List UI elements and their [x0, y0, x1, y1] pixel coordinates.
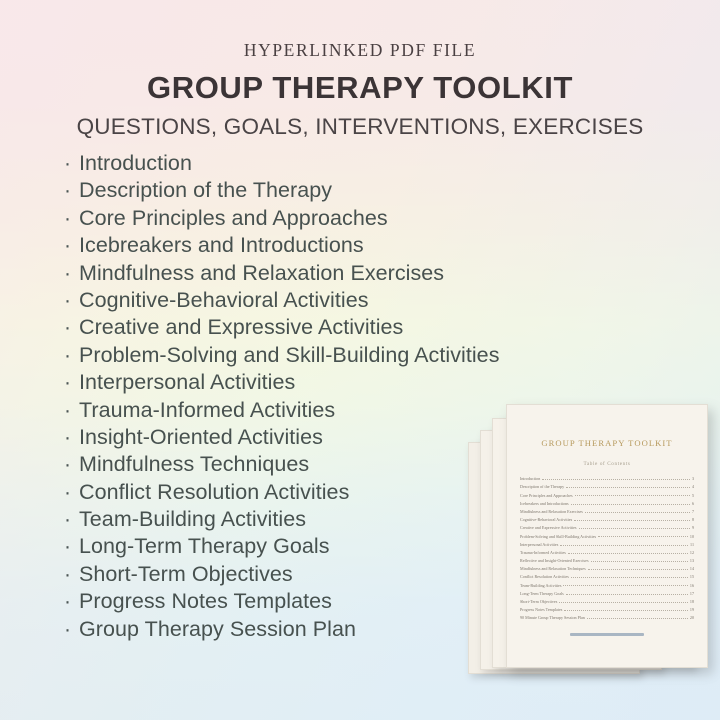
bullet-icon: ·	[64, 342, 79, 369]
bullet-icon: ·	[64, 533, 79, 560]
list-item-label: Mindfulness Techniques	[79, 451, 309, 478]
list-item-label: Interpersonal Activities	[79, 369, 295, 396]
document-toc-row-label: Icebreakers and Introductions	[520, 501, 571, 506]
document-toc-row[interactable]: Long-Term Therapy Goals17	[520, 588, 694, 596]
list-item[interactable]: ·Insight-Oriented Activities	[64, 424, 500, 451]
list-item[interactable]: ·Introduction	[64, 150, 500, 177]
list-item[interactable]: ·Core Principles and Approaches	[64, 205, 500, 232]
document-toc-row-page: 14	[688, 566, 694, 571]
bullet-icon: ·	[64, 314, 79, 341]
document-toc-row-page: 19	[688, 607, 694, 612]
document-toc-leader	[588, 569, 688, 570]
list-item[interactable]: ·Progress Notes Templates	[64, 588, 500, 615]
list-item-label: Mindfulness and Relaxation Exercises	[79, 260, 444, 287]
document-toc-row-page: 9	[690, 525, 694, 530]
document-title: GROUP THERAPY TOOLKIT	[507, 438, 707, 448]
document-toc-row-page: 20	[688, 615, 694, 620]
document-toc-row-label: Cognitive-Behavioral Activities	[520, 517, 574, 522]
list-item-label: Conflict Resolution Activities	[79, 479, 349, 506]
document-toc-leader	[574, 520, 690, 521]
poster-header: HYPERLINKED PDF FILE GROUP THERAPY TOOLK…	[0, 0, 720, 140]
document-toc-row-page: 13	[688, 558, 694, 563]
list-item-label: Problem-Solving and Skill-Building Activ…	[79, 342, 500, 369]
document-preview-stack: GROUP THERAPY TOOLKIT Table of Contents …	[468, 404, 720, 684]
list-item-label: Description of the Therapy	[79, 177, 332, 204]
document-toc-row-label: Description of the Therapy	[520, 484, 566, 489]
bullet-icon: ·	[64, 369, 79, 396]
list-item[interactable]: ·Problem-Solving and Skill-Building Acti…	[64, 342, 500, 369]
document-toc-leader	[591, 561, 688, 562]
document-toc-row-label: Trauma-Informed Activities	[520, 550, 568, 555]
document-toc-row[interactable]: Creative and Expressive Activities9	[520, 522, 694, 530]
document-toc-row[interactable]: Cognitive-Behavioral Activities8	[520, 514, 694, 522]
document-toc-row-label: Introduction	[520, 476, 542, 481]
document-toc-row[interactable]: Progress Notes Templates19	[520, 604, 694, 612]
document-toc-leader	[566, 487, 690, 488]
document-toc-leader	[585, 512, 690, 513]
document-toc-row[interactable]: Short-Term Objectives18	[520, 596, 694, 604]
bullet-icon: ·	[64, 424, 79, 451]
document-toc-row-label: 90 Minute Group Therapy Session Plan	[520, 615, 587, 620]
list-item-label: Progress Notes Templates	[79, 588, 332, 615]
document-toc-row-page: 7	[690, 509, 694, 514]
bullet-icon: ·	[64, 561, 79, 588]
document-toc-row[interactable]: Core Principles and Approaches5	[520, 489, 694, 497]
document-toc-leader	[571, 577, 688, 578]
document-toc-row-label: Problem-Solving and Skill-Building Activ…	[520, 534, 598, 539]
document-toc-leader	[564, 610, 688, 611]
list-item[interactable]: ·Trauma-Informed Activities	[64, 397, 500, 424]
document-footer-bar	[570, 633, 644, 636]
list-item[interactable]: ·Cognitive-Behavioral Activities	[64, 287, 500, 314]
list-item-label: Team-Building Activities	[79, 506, 306, 533]
document-toc-row-page: 3	[690, 476, 694, 481]
document-toc-row[interactable]: Mindfulness and Relaxation Techniques14	[520, 563, 694, 571]
list-item-label: Trauma-Informed Activities	[79, 397, 335, 424]
bullet-icon: ·	[64, 205, 79, 232]
bullet-icon: ·	[64, 150, 79, 177]
document-toc-row[interactable]: Icebreakers and Introductions6	[520, 498, 694, 506]
document-toc-row-label: Mindfulness and Relaxation Exercises	[520, 509, 585, 514]
document-toc-row-label: Progress Notes Templates	[520, 607, 564, 612]
list-item-label: Short-Term Objectives	[79, 561, 293, 588]
document-toc-leader	[587, 618, 688, 619]
list-item-label: Core Principles and Approaches	[79, 205, 388, 232]
bullet-icon: ·	[64, 287, 79, 314]
poster-canvas: HYPERLINKED PDF FILE GROUP THERAPY TOOLK…	[0, 0, 720, 720]
eyebrow-text: HYPERLINKED PDF FILE	[0, 41, 720, 60]
list-item-label: Cognitive-Behavioral Activities	[79, 287, 369, 314]
page-subtitle: QUESTIONS, GOALS, INTERVENTIONS, EXERCIS…	[0, 115, 720, 140]
document-toc-row-page: 17	[688, 591, 694, 596]
bullet-icon: ·	[64, 260, 79, 287]
list-item[interactable]: ·Mindfulness and Relaxation Exercises	[64, 260, 500, 287]
document-toc-leader	[563, 585, 687, 586]
list-item[interactable]: ·Icebreakers and Introductions	[64, 232, 500, 259]
list-item-label: Icebreakers and Introductions	[79, 232, 364, 259]
document-toc-row-label: Team-Building Activities	[520, 583, 563, 588]
document-toc-row-page: 11	[688, 542, 694, 547]
list-item-label: Insight-Oriented Activities	[79, 424, 323, 451]
list-item[interactable]: ·Interpersonal Activities	[64, 369, 500, 396]
list-item[interactable]: ·Conflict Resolution Activities	[64, 479, 500, 506]
document-toc-leader	[598, 536, 688, 537]
list-item-label: Group Therapy Session Plan	[79, 616, 356, 643]
bullet-icon: ·	[64, 177, 79, 204]
list-item-label: Creative and Expressive Activities	[79, 314, 403, 341]
document-toc-row[interactable]: Conflict Resolution Activities15	[520, 571, 694, 579]
document-toc-row[interactable]: Reflective and Insight-Oriented Exercise…	[520, 555, 694, 563]
document-toc-row-page: 6	[690, 501, 694, 506]
document-toc-row-label: Creative and Expressive Activities	[520, 525, 579, 530]
document-toc-leader	[571, 504, 690, 505]
document-toc-leader	[542, 479, 690, 480]
bullet-icon: ·	[64, 479, 79, 506]
document-toc-row-label: Long-Term Therapy Goals	[520, 591, 566, 596]
document-toc-leader	[568, 553, 688, 554]
bullet-icon: ·	[64, 232, 79, 259]
document-toc-row[interactable]: Team-Building Activities16	[520, 579, 694, 587]
document-toc-leader	[560, 545, 688, 546]
list-item[interactable]: ·Short-Term Objectives	[64, 561, 500, 588]
document-toc-row[interactable]: Description of the Therapy4	[520, 481, 694, 489]
bullet-icon: ·	[64, 397, 79, 424]
bullet-icon: ·	[64, 506, 79, 533]
document-toc-row-label: Conflict Resolution Activities	[520, 574, 571, 579]
document-toc-row-label: Core Principles and Approaches	[520, 493, 575, 498]
document-toc-row[interactable]: 90 Minute Group Therapy Session Plan20	[520, 612, 694, 620]
list-item[interactable]: ·Mindfulness Techniques	[64, 451, 500, 478]
list-item[interactable]: ·Group Therapy Session Plan	[64, 616, 500, 643]
document-toc-row-page: 10	[688, 534, 694, 539]
document-toc-row-label: Short-Term Objectives	[520, 599, 559, 604]
list-item[interactable]: ·Team-Building Activities	[64, 506, 500, 533]
document-toc-row-label: Interpersonal Activities	[520, 542, 560, 547]
page-title: GROUP THERAPY TOOLKIT	[0, 71, 720, 105]
document-toc-row-label: Mindfulness and Relaxation Techniques	[520, 566, 588, 571]
document-toc-leader	[566, 594, 688, 595]
list-item[interactable]: ·Description of the Therapy	[64, 177, 500, 204]
list-item-label: Introduction	[79, 150, 192, 177]
document-toc-row-page: 15	[688, 574, 694, 579]
document-toc-leader	[579, 528, 690, 529]
document-toc-leader	[559, 602, 688, 603]
document-toc-row[interactable]: Introduction3	[520, 473, 694, 481]
document-toc-row-page: 12	[688, 550, 694, 555]
list-item[interactable]: ·Creative and Expressive Activities	[64, 314, 500, 341]
contents-list: ·Introduction·Description of the Therapy…	[64, 150, 500, 643]
document-toc: Introduction3Description of the Therapy4…	[520, 473, 694, 620]
bullet-icon: ·	[64, 588, 79, 615]
document-toc-row-page: 4	[690, 484, 694, 489]
list-item[interactable]: ·Long-Term Therapy Goals	[64, 533, 500, 560]
bullet-icon: ·	[64, 451, 79, 478]
list-item-label: Long-Term Therapy Goals	[79, 533, 330, 560]
paper-sheet-front: GROUP THERAPY TOOLKIT Table of Contents …	[506, 404, 708, 668]
document-toc-row-page: 16	[688, 583, 694, 588]
bullet-icon: ·	[64, 616, 79, 643]
document-toc-row-label: Reflective and Insight-Oriented Exercise…	[520, 558, 591, 563]
document-toc-row[interactable]: Interpersonal Activities11	[520, 539, 694, 547]
document-toc-row[interactable]: Mindfulness and Relaxation Exercises7	[520, 506, 694, 514]
document-toc-leader	[575, 495, 690, 496]
document-toc-row-page: 8	[690, 517, 694, 522]
document-toc-row[interactable]: Problem-Solving and Skill-Building Activ…	[520, 530, 694, 538]
document-toc-row[interactable]: Trauma-Informed Activities12	[520, 547, 694, 555]
document-toc-heading: Table of Contents	[507, 461, 707, 467]
document-toc-row-page: 18	[688, 599, 694, 604]
document-toc-row-page: 5	[690, 493, 694, 498]
